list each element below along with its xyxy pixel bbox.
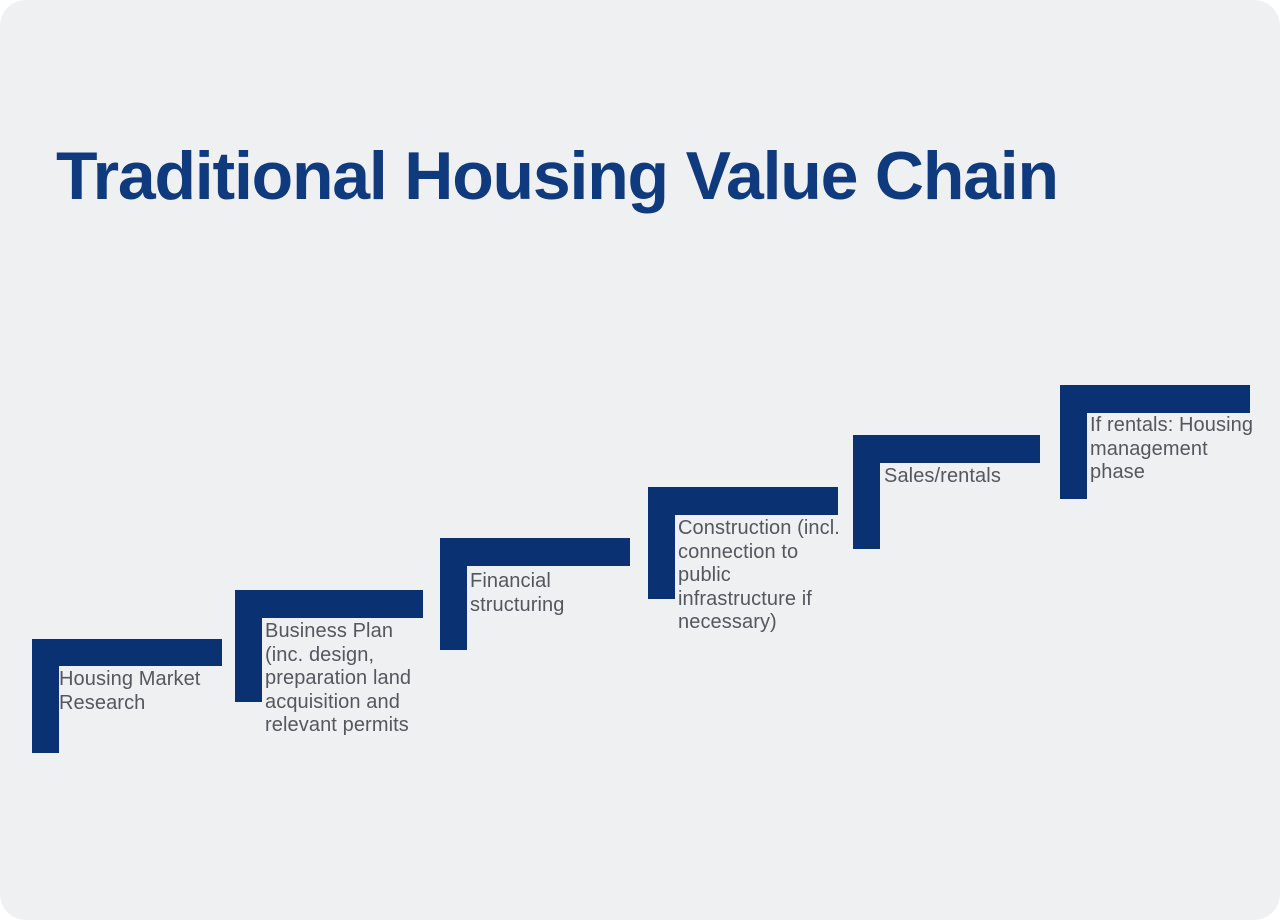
step-horizontal-bar xyxy=(853,435,1040,463)
step-label: Sales/rentals xyxy=(884,465,1044,489)
step-horizontal-bar xyxy=(1060,385,1250,413)
step-label: Financial structuring xyxy=(470,570,630,617)
step-label: Construction (incl. connection to public… xyxy=(678,517,841,635)
step-label: Business Plan (inc. design, preparation … xyxy=(265,620,425,738)
step-label: Housing Market Research xyxy=(59,668,224,715)
step-horizontal-bar xyxy=(440,538,630,566)
step-horizontal-bar xyxy=(32,639,222,666)
step-vertical-bar xyxy=(235,590,262,702)
step-horizontal-bar xyxy=(648,487,838,515)
step-horizontal-bar xyxy=(235,590,423,618)
step-vertical-bar xyxy=(32,639,59,753)
step-label: If rentals: Housing management phase xyxy=(1090,414,1255,485)
step-vertical-bar xyxy=(853,435,880,549)
step-vertical-bar xyxy=(1060,385,1087,499)
diagram-canvas: Traditional Housing Value Chain Housing … xyxy=(0,0,1280,920)
page-title: Traditional Housing Value Chain xyxy=(56,142,1058,210)
step-vertical-bar xyxy=(648,487,675,599)
step-vertical-bar xyxy=(440,538,467,650)
